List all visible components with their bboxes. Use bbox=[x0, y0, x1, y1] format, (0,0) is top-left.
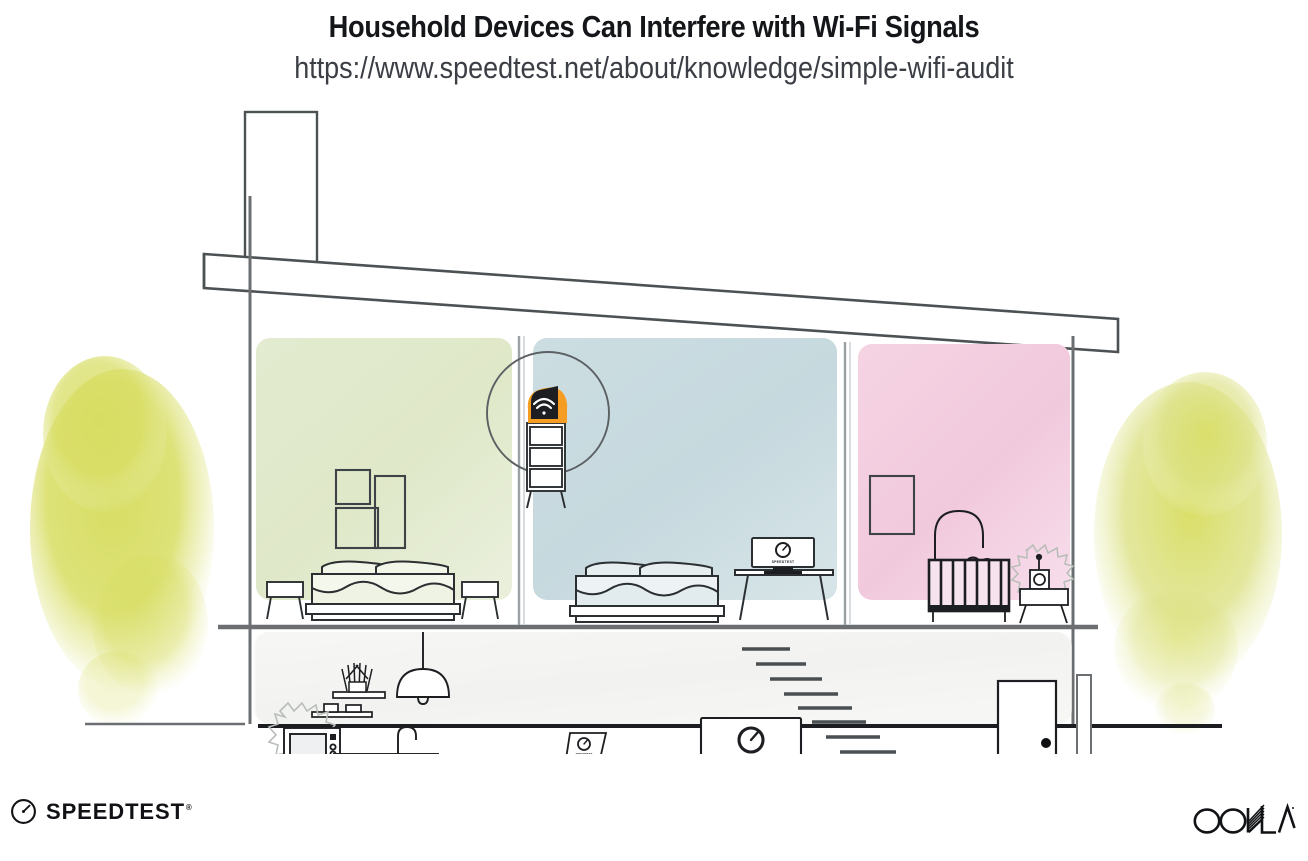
ookla-wordmark-icon bbox=[1192, 802, 1296, 836]
television: SPEEDTEST bbox=[701, 718, 801, 754]
microwave bbox=[284, 728, 340, 754]
roof bbox=[204, 254, 1118, 352]
speedtest-wordmark: SPEEDTEST® bbox=[46, 799, 192, 825]
shelf-upper bbox=[333, 692, 385, 698]
registered-mark: ® bbox=[186, 803, 192, 812]
chimney bbox=[245, 112, 317, 272]
room-main-floor: SPEEDTEST bbox=[254, 544, 1091, 754]
speedtest-wordmark-text: SPEEDTEST bbox=[46, 799, 185, 824]
house-cutaway-svg: SPEEDTEST bbox=[0, 104, 1308, 754]
footer: SPEEDTEST® bbox=[0, 780, 1308, 861]
laptop: SPEEDTEST bbox=[548, 733, 614, 754]
laptop-screen-label: SPEEDTEST bbox=[576, 752, 593, 754]
speedtest-logo: SPEEDTEST® bbox=[10, 798, 192, 825]
tree-right bbox=[1094, 372, 1282, 735]
sink-faucet-icon bbox=[398, 727, 416, 754]
header: Household Devices Can Interfere with Wi-… bbox=[0, 0, 1308, 86]
window-panel-right bbox=[1077, 675, 1091, 754]
entry-door[interactable] bbox=[998, 681, 1056, 754]
tree-left bbox=[30, 356, 214, 727]
ookla-logo bbox=[1192, 802, 1296, 841]
speedtest-gauge-icon bbox=[10, 798, 37, 825]
source-url: https://www.speedtest.net/about/knowledg… bbox=[85, 49, 1223, 86]
page-title: Household Devices Can Interfere with Wi-… bbox=[78, 9, 1229, 45]
house-illustration: SPEEDTEST bbox=[0, 104, 1308, 754]
door-knob-icon[interactable] bbox=[1041, 738, 1051, 748]
page-root: Household Devices Can Interfere with Wi-… bbox=[0, 0, 1308, 861]
